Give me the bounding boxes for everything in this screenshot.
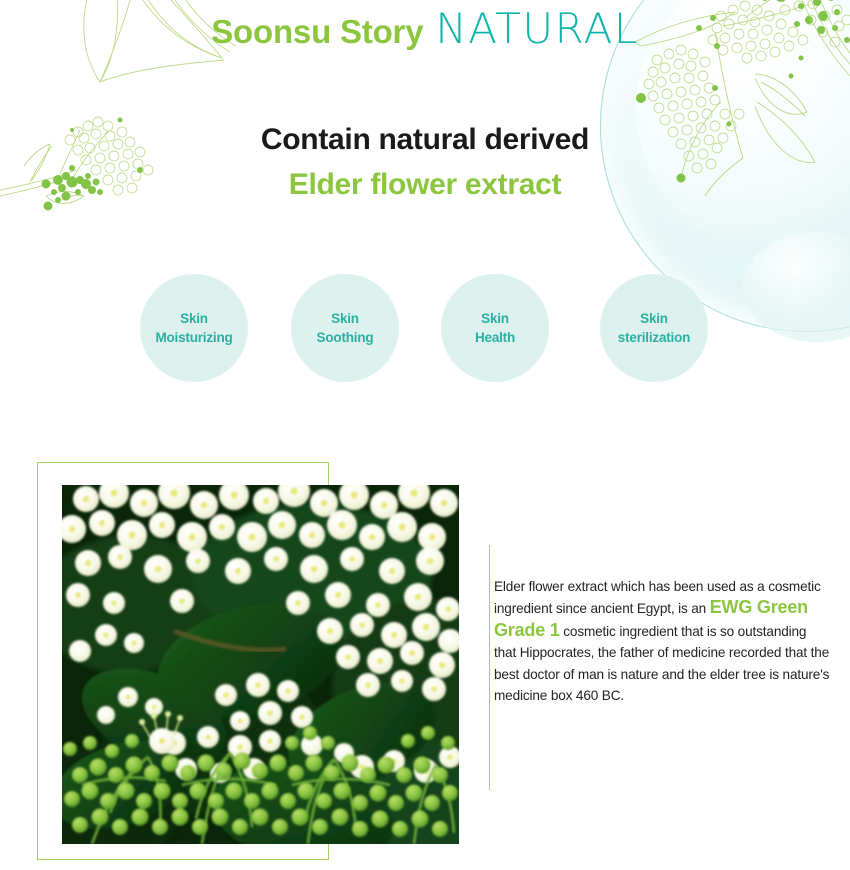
benefit-circle-skin-health[interactable]: Skin Health [441,274,549,382]
headline-line-1: Contain natural derived [0,118,850,162]
brand-name-primary: Soonsu Story [211,13,423,50]
elder-flower-photo [62,485,459,844]
benefit-label-line-1: Skin [481,309,509,328]
product-detail-page: Soonsu StoryNATURAL Contain natural deri… [0,0,850,870]
elder-flower-photo-image [62,485,459,844]
benefit-circle-skin-moisturizing[interactable]: Skin Moisturizing [140,274,248,382]
headline-line-2: Elder flower extract [0,162,850,208]
benefit-list: Skin Moisturizing Skin Soothing Skin Hea… [135,274,725,384]
benefit-label-line-2: sterilization [618,328,690,347]
brand-name-secondary: NATURAL [435,4,638,53]
water-bubble-small-graphic [742,232,850,342]
page-headline: Contain natural derived Elder flower ext… [0,118,850,208]
benefit-label-line-2: Moisturizing [155,328,232,347]
benefit-label-line-2: Soothing [317,328,374,347]
benefit-circle-skin-sterilization[interactable]: Skin sterilization [600,274,708,382]
brand-title: Soonsu StoryNATURAL [0,4,850,53]
ingredient-description: Elder flower extract which has been used… [494,576,832,707]
benefit-circle-skin-soothing[interactable]: Skin Soothing [291,274,399,382]
benefit-label-line-1: Skin [180,309,208,328]
benefit-label-line-1: Skin [331,309,359,328]
benefit-label-line-2: Health [475,328,515,347]
benefit-label-line-1: Skin [640,309,668,328]
copy-accent-rule [489,545,490,790]
